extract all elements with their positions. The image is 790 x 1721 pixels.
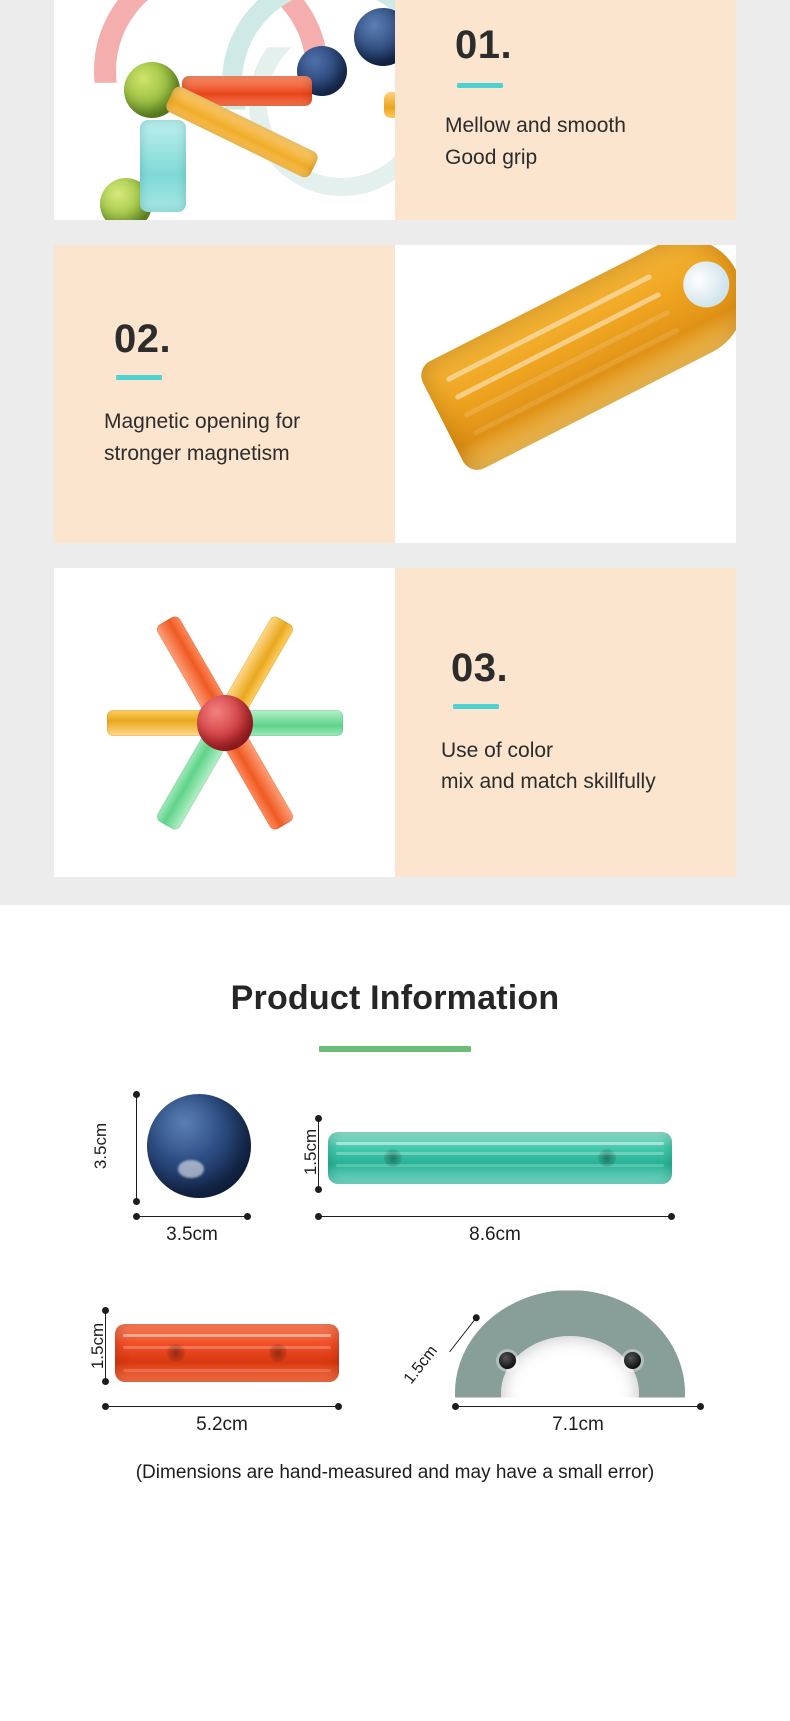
- feature-number-01: 01.: [455, 25, 720, 65]
- part-ball: [147, 1094, 251, 1198]
- feature-accent-rule-01: [457, 83, 503, 88]
- dimension-footnote: (Dimensions are hand-measured and may ha…: [0, 1436, 790, 1514]
- ball-height-label: 3.5cm: [91, 1123, 111, 1169]
- feature-number-02: 02.: [114, 319, 379, 359]
- product-detail-page: 01. Mellow and smooth Good grip 02. Magn…: [0, 0, 790, 1514]
- curved-arc-height-label: 1.5cm: [401, 1343, 442, 1388]
- ball-width-line: [136, 1216, 248, 1217]
- feature-description-01: Mellow and smooth Good grip: [445, 110, 720, 173]
- feature-photo-01: [54, 0, 395, 220]
- dimension-diagrams: 3.5cm 3.5cm 1.5cm: [0, 1086, 790, 1436]
- feature-accent-rule-03: [453, 704, 499, 709]
- product-information-title: Product Information: [0, 979, 790, 1018]
- dimension-item-ball: 3.5cm 3.5cm: [108, 1086, 248, 1246]
- long-stick-width-label: 8.6cm: [318, 1224, 672, 1246]
- feature-photo-03: [54, 568, 395, 877]
- feature-accent-rule-02: [116, 375, 162, 380]
- feature-copy-02: 02. Magnetic opening for stronger magnet…: [54, 245, 395, 543]
- long-stick-width-line: [318, 1216, 672, 1217]
- feature-description-03: Use of color mix and match skillfully: [441, 735, 720, 798]
- feature-row-02: 02. Magnetic opening for stronger magnet…: [54, 245, 736, 543]
- flower-illustration: [54, 568, 395, 877]
- curved-arc-width-label: 7.1cm: [455, 1414, 701, 1436]
- dimension-item-long-stick: 1.5cm 8.6cm: [292, 1086, 682, 1246]
- dimension-item-short-stick: 1.5cm 5.2cm: [81, 1284, 351, 1436]
- construction-toy-illustration: [54, 0, 395, 220]
- amber-stick-illustration: [395, 245, 736, 543]
- feature-copy-01: 01. Mellow and smooth Good grip: [395, 0, 736, 220]
- feature-row-03: 03. Use of color mix and match skillfull…: [54, 568, 736, 877]
- part-short-stick: [115, 1324, 339, 1382]
- feature-copy-03: 03. Use of color mix and match skillfull…: [395, 568, 736, 877]
- short-stick-width-line: [105, 1406, 339, 1407]
- curved-arc-width-line: [455, 1406, 701, 1407]
- part-long-stick: [328, 1132, 672, 1184]
- ball-height-line: [136, 1094, 137, 1202]
- feature-number-03: 03.: [451, 648, 720, 688]
- short-stick-height-label: 1.5cm: [88, 1323, 108, 1369]
- long-stick-height-label: 1.5cm: [301, 1129, 321, 1175]
- features-section: 01. Mellow and smooth Good grip 02. Magn…: [0, 0, 790, 905]
- ball-width-label: 3.5cm: [136, 1224, 248, 1246]
- feature-description-02: Magnetic opening for stronger magnetism: [104, 406, 379, 469]
- part-curved-arc: [455, 1290, 685, 1400]
- product-information-section: Product Information 3.5cm 3.5cm: [0, 905, 790, 1514]
- dimension-item-curved-arc: 1.5cm 7.1cm: [409, 1284, 709, 1436]
- feature-row-01: 01. Mellow and smooth Good grip: [54, 0, 736, 220]
- short-stick-width-label: 5.2cm: [105, 1414, 339, 1436]
- product-information-underline: [319, 1046, 471, 1052]
- feature-photo-02: [395, 245, 736, 543]
